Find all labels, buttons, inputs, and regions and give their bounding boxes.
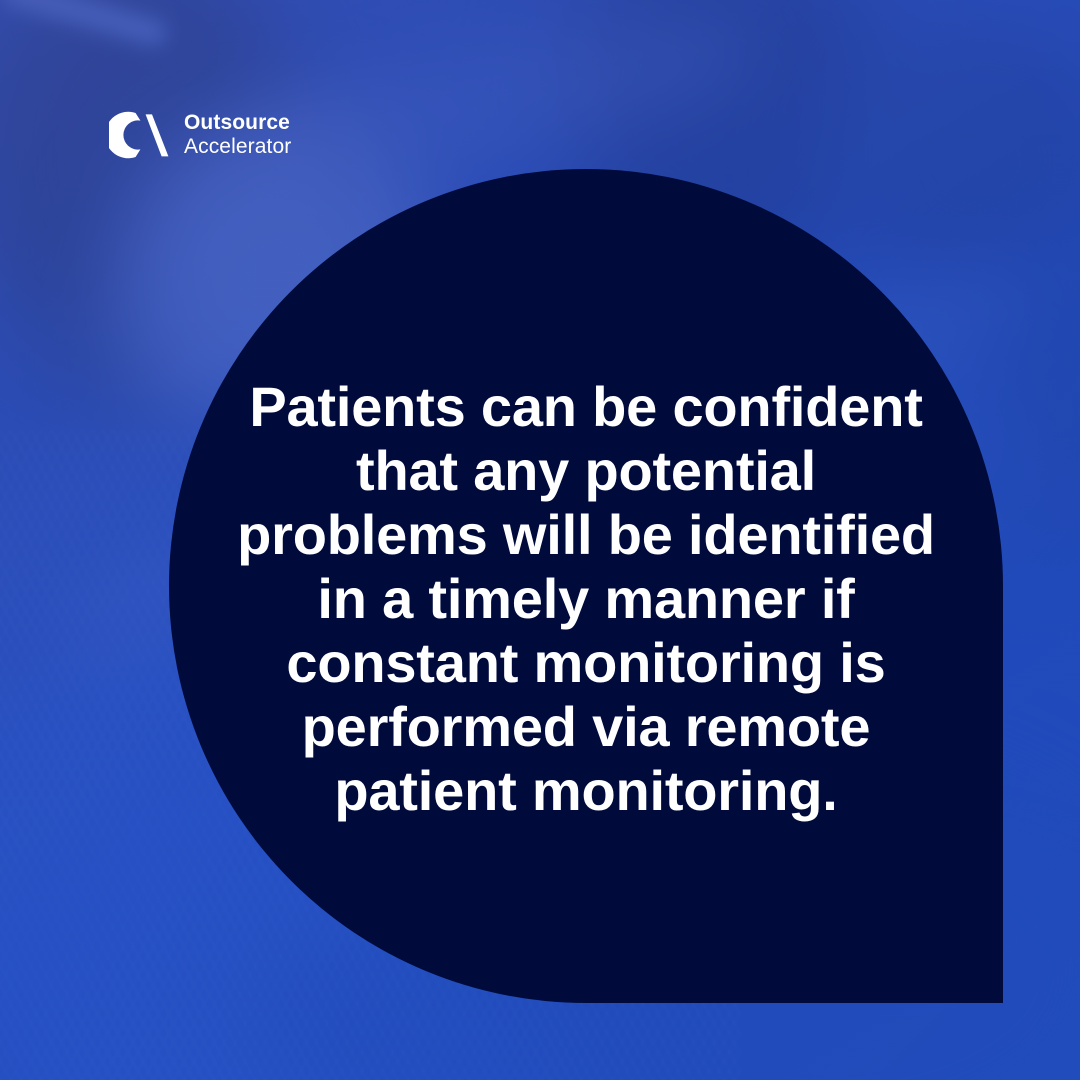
brand-name-line-1: Outsource [184, 111, 291, 135]
brand-logo[interactable]: Outsource Accelerator [109, 110, 291, 160]
quote-line: constant monitoring is [169, 631, 1003, 695]
brand-name-line-2: Accelerator [184, 135, 291, 159]
quote-line: patient monitoring. [169, 759, 1003, 823]
ca-monogram-icon [109, 110, 169, 160]
quote-line: in a timely manner if [169, 567, 1003, 631]
quote-line: performed via remote [169, 695, 1003, 759]
quote-line: that any potential [169, 439, 1003, 503]
quote-card: Outsource Accelerator Patients can be co… [0, 0, 1080, 1080]
quote-line: problems will be identified [169, 503, 1003, 567]
brand-wordmark: Outsource Accelerator [184, 111, 291, 158]
quote-text: Patients can be confident that any poten… [169, 375, 1003, 823]
quote-line: Patients can be confident [169, 375, 1003, 439]
